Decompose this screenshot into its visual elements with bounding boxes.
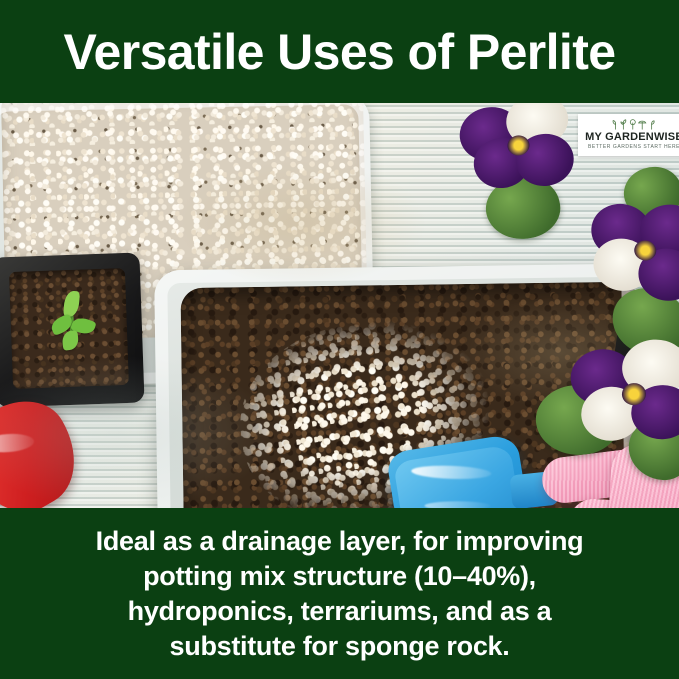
leaf-icon <box>63 290 80 317</box>
infographic-card: Versatile Uses of Perlite <box>0 0 679 679</box>
caption-line: hydroponics, terrariums, and as a <box>128 594 552 629</box>
seedling-pot <box>0 252 145 407</box>
pansy-flower <box>451 103 592 209</box>
logo-tagline: BETTER GARDENS START HERE <box>588 144 679 151</box>
caption-line: Ideal as a drainage layer, for improving <box>96 524 584 559</box>
page-title: Versatile Uses of Perlite <box>64 27 616 77</box>
caption-banner: Ideal as a drainage layer, for improving… <box>0 508 679 679</box>
caption-line: substitute for sponge rock. <box>170 629 510 664</box>
caption-line: potting mix structure (10–40%), <box>143 559 536 594</box>
blue-trowel-highlight-lower <box>425 501 491 508</box>
photo-area <box>0 103 679 508</box>
pansy-flower <box>580 189 679 314</box>
pansy-flower <box>566 335 679 456</box>
seedling-plant <box>47 290 99 354</box>
seedlings-icon <box>610 119 657 130</box>
title-banner: Versatile Uses of Perlite <box>0 0 679 103</box>
logo-name: MY GARDENWISE <box>585 131 679 143</box>
brand-logo[interactable]: MY GARDENWISE BETTER GARDENS START HERE <box>578 114 679 156</box>
leaf-icon <box>61 330 79 351</box>
